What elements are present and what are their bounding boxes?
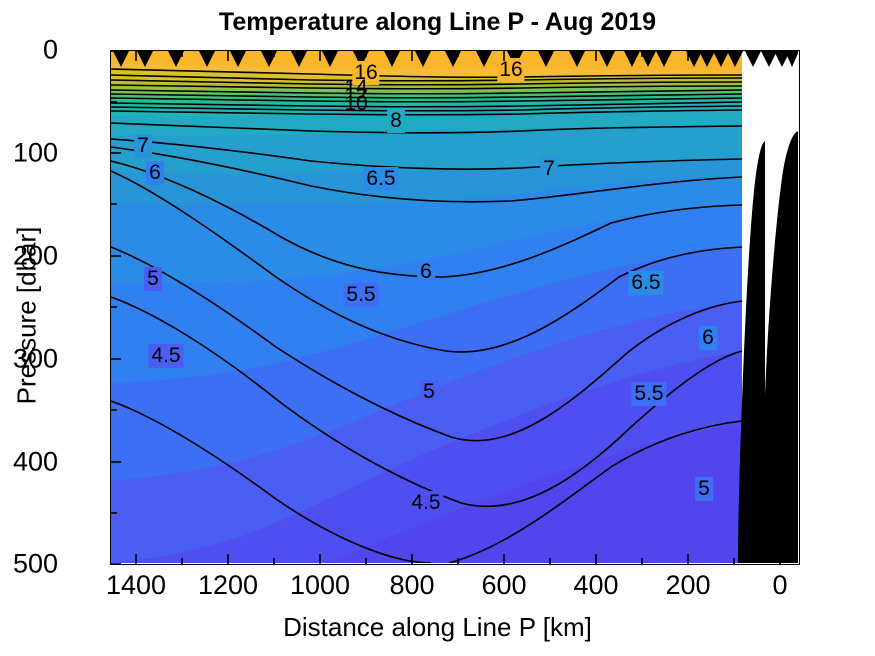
x-tick-label: 0: [710, 570, 850, 601]
y-tick-label: 0: [0, 35, 58, 66]
plot-area: 16 16 14 12 10 8 7 6 6.5 7 5 5.5 6 6.5 6…: [111, 51, 799, 564]
plot-axes: 16 16 14 12 10 8 7 6 6.5 7 5 5.5 6 6.5 6…: [110, 50, 800, 565]
y-tick-label: 500: [0, 549, 58, 580]
y-axis-title: Pressure [dbar]: [12, 126, 43, 506]
page-title: Temperature along Line P - Aug 2019: [0, 8, 875, 37]
bathymetry-shape: [111, 51, 798, 563]
figure-canvas: Temperature along Line P - Aug 2019: [0, 0, 875, 656]
x-axis-title: Distance along Line P [km]: [0, 612, 875, 643]
